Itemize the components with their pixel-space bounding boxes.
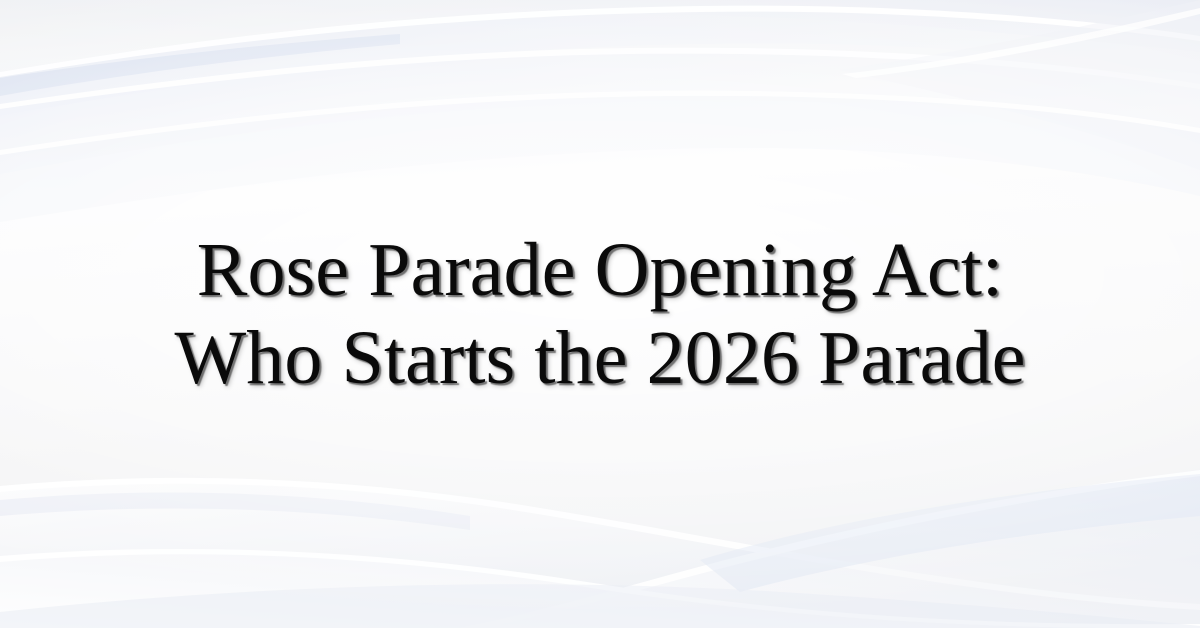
- headline-container: Rose Parade Opening Act: Who Starts the …: [0, 0, 1200, 628]
- page-title: Rose Parade Opening Act: Who Starts the …: [174, 226, 1025, 402]
- og-banner-card: Rose Parade Opening Act: Who Starts the …: [0, 0, 1200, 628]
